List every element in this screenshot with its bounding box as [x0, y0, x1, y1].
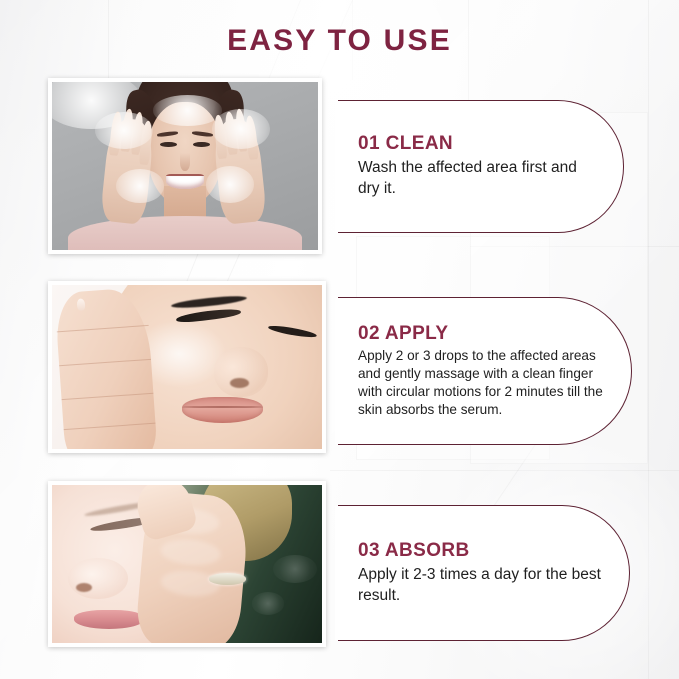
shoulder	[68, 216, 302, 250]
eye-right	[193, 142, 210, 147]
step-2-heading: 02 APPLY	[358, 323, 605, 345]
eye-left	[160, 142, 177, 147]
lips	[74, 610, 144, 629]
photo-clean	[52, 82, 318, 250]
step-3-body: Apply it 2-3 times a day for the best re…	[358, 565, 603, 606]
bg-line	[470, 246, 679, 247]
ring	[209, 573, 247, 584]
step-card-1: 01 CLEAN Wash the affected area first an…	[338, 100, 624, 233]
step-1-heading: 01 CLEAN	[358, 133, 597, 155]
bokeh-light	[252, 592, 284, 614]
bokeh-light	[273, 555, 316, 583]
step-image-2	[48, 281, 326, 453]
foam-blob	[206, 166, 254, 203]
fingernail	[77, 298, 86, 310]
foam-blob	[95, 112, 154, 149]
nose	[68, 558, 127, 599]
lips	[182, 397, 263, 423]
smile	[166, 174, 203, 189]
finger-crease	[59, 358, 151, 365]
photo-absorb	[52, 485, 322, 643]
foam-blob	[116, 169, 164, 203]
finger-crease	[57, 324, 149, 331]
bg-line	[330, 470, 679, 471]
photo-apply	[52, 285, 322, 449]
nose	[214, 347, 268, 396]
step-image-1	[48, 78, 322, 254]
finger-crease	[64, 423, 156, 430]
step-card-2: 02 APPLY Apply 2 or 3 drops to the affec…	[338, 297, 632, 445]
page-title: EASY TO USE	[0, 24, 679, 58]
bg-line	[648, 0, 649, 679]
nose	[180, 153, 191, 171]
step-2-body: Apply 2 or 3 drops to the affected areas…	[358, 347, 605, 420]
finger-crease	[62, 392, 154, 399]
foam-blob	[153, 95, 222, 125]
step-3-heading: 03 ABSORB	[358, 540, 603, 562]
knuckle	[160, 538, 221, 568]
step-image-3	[48, 481, 326, 647]
step-1-body: Wash the affected area first and dry it.	[358, 158, 597, 199]
step-card-3: 03 ABSORB Apply it 2-3 times a day for t…	[338, 505, 630, 641]
knuckle	[160, 569, 221, 599]
infographic-page: EASY TO USE	[0, 0, 679, 679]
